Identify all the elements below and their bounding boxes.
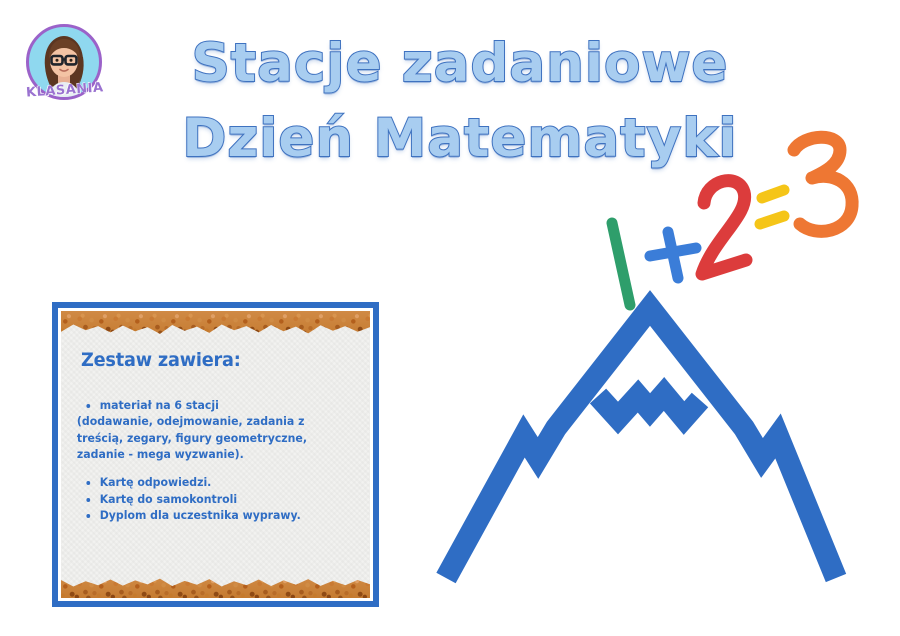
plus-sign-glyph-2 — [668, 232, 678, 278]
equals-upper-dash — [762, 190, 784, 198]
klasania-logo[interactable]: KLASANIA — [26, 24, 102, 100]
logo-circle — [26, 24, 102, 100]
list-item: Kartę odpowiedzi. — [100, 474, 342, 490]
digit-two-glyph — [702, 181, 746, 274]
equation-text: 1 + 2 = 3 — [888, 128, 889, 129]
card-paper: Zestaw zawiera: materiał na 6 stacji (do… — [61, 311, 370, 598]
avatar-icon — [29, 27, 99, 97]
mountain-svg — [432, 288, 900, 618]
card-heading: Zestaw zawiera: — [81, 349, 337, 371]
poster-canvas: KLASANIA Stacje zadaniowe Dzień Matematy… — [0, 0, 900, 636]
card-note: (dodawanie, odejmowanie, zadania z treśc… — [75, 413, 342, 462]
spacer — [75, 462, 342, 474]
mountain-illustration — [432, 288, 900, 618]
contents-card: Zestaw zawiera: materiał na 6 stacji (do… — [52, 302, 379, 607]
contents-list-secondary: Kartę odpowiedzi. Kartę do samokontroli … — [75, 474, 342, 523]
title-line-1: Stacje zadaniowe — [140, 26, 780, 101]
list-item: Kartę do samokontroli — [100, 491, 342, 507]
digit-three-glyph — [794, 137, 852, 231]
list-item: Dyplom dla uczestnika wyprawy. — [100, 507, 342, 523]
card-content: Zestaw zawiera: materiał na 6 stacji (do… — [61, 311, 370, 598]
equals-lower-dash — [760, 216, 784, 224]
list-item: materiał na 6 stacji — [100, 397, 342, 413]
card-body: materiał na 6 stacji (dodawanie, odejmow… — [75, 397, 342, 523]
contents-list-primary: materiał na 6 stacji — [75, 397, 342, 413]
